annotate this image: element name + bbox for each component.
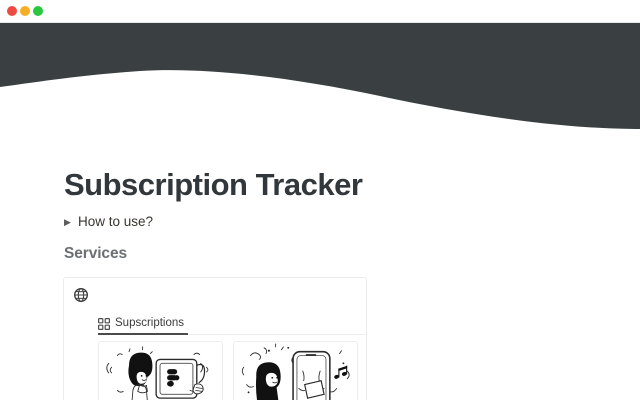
gallery-view-icon bbox=[98, 317, 110, 329]
minimize-window-button[interactable] bbox=[20, 6, 30, 16]
page-cover-wave bbox=[0, 23, 640, 141]
maximize-window-button[interactable] bbox=[33, 6, 43, 16]
close-window-button[interactable] bbox=[7, 6, 17, 16]
page-title: Subscription Tracker bbox=[64, 168, 362, 202]
app-window: Subscription Tracker ▶ How to use? Servi… bbox=[0, 0, 640, 400]
window-titlebar bbox=[0, 0, 640, 23]
gallery-card-list bbox=[98, 341, 358, 400]
section-heading-services: Services bbox=[64, 245, 127, 263]
database-embed: Supscriptions bbox=[63, 277, 367, 400]
tab-label: Supscriptions bbox=[115, 317, 184, 329]
tab-supscriptions[interactable]: Supscriptions bbox=[98, 311, 188, 334]
database-view-tabs: Supscriptions bbox=[98, 311, 367, 335]
page-content: Subscription Tracker ▶ How to use? Servi… bbox=[0, 141, 640, 400]
gallery-card-figma[interactable] bbox=[98, 341, 223, 400]
gallery-card-music[interactable] bbox=[233, 341, 358, 400]
toggle-block-how-to-use[interactable]: ▶ How to use? bbox=[64, 213, 153, 231]
triangle-right-icon[interactable]: ▶ bbox=[64, 213, 78, 231]
globe-icon bbox=[73, 287, 89, 303]
toggle-block-label: How to use? bbox=[78, 213, 153, 231]
